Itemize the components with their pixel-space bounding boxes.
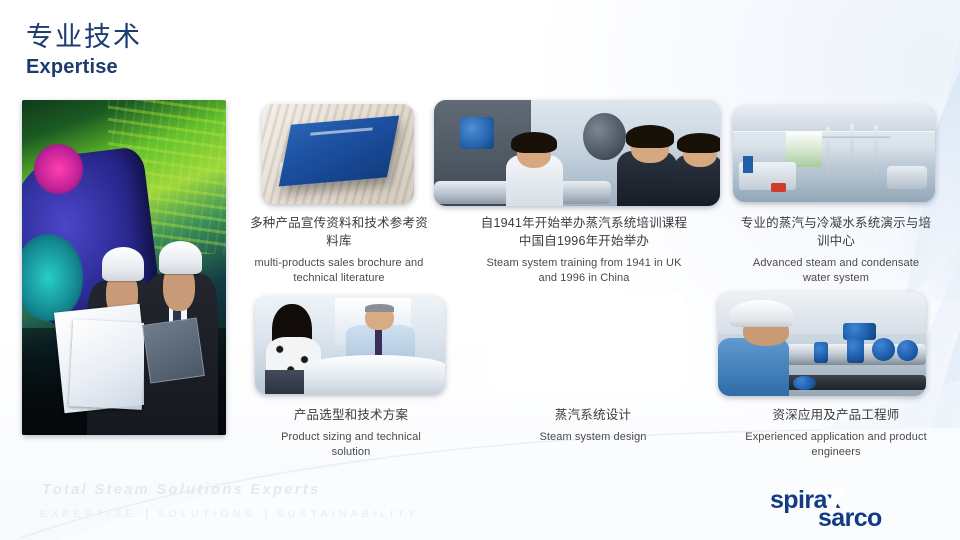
caption-cn-1: 多种产品宣传资料和技术参考资料库 [250, 214, 428, 250]
caption-cn-4: 产品选型和技术方案 [262, 406, 440, 424]
logo-text-sarco: sarco [818, 506, 882, 531]
spirax-sarco-logo: spirax sarco [770, 488, 940, 534]
customer-consultation-meeting-photo [255, 296, 445, 394]
caption-en-6: Experienced application and product engi… [740, 430, 932, 460]
footer-tagline: Total Steam Solutions Experts [42, 482, 321, 498]
footer-pillar-separator-2: | [265, 508, 268, 520]
caption-demo-centre: 专业的蒸汽与冷凝水系统演示与培训中心 Advanced steam and co… [740, 214, 932, 286]
demonstration-training-centre-photo [733, 106, 935, 202]
caption-cn-3: 专业的蒸汽与冷凝水系统演示与培训中心 [740, 214, 932, 250]
page-title-en: Expertise [26, 55, 142, 79]
caption-steam-system-design: 蒸汽系统设计 Steam system design [500, 406, 686, 445]
footer-pillar-expertise: EXPERTISE [40, 508, 137, 520]
steam-training-class-photo [434, 100, 720, 206]
caption-en-1: multi-products sales brochure and techni… [250, 256, 428, 286]
caption-cn-5: 蒸汽系统设计 [500, 406, 686, 424]
steam-system-schematic-diagram-photo [487, 292, 686, 392]
two-engineers-reviewing-blueprints-photo [22, 100, 226, 435]
caption-steam-training: 自1941年开始举办蒸汽系统培训课程中国自1996年开始举办 Steam sys… [478, 214, 690, 286]
caption-en-5: Steam system design [500, 430, 686, 445]
blue-catalogue-book-photo [262, 104, 414, 204]
footer-pillar-sustainability: SUSTAINABILITY [277, 508, 420, 520]
caption-cn-6: 资深应用及产品工程师 [740, 406, 932, 424]
footer-pillars: EXPERTISE | SOLUTIONS | SUSTAINABILITY [40, 508, 419, 520]
slide-canvas: 专业技术 Expertise [0, 0, 960, 540]
caption-product-sizing: 产品选型和技术方案 Product sizing and technical s… [262, 406, 440, 460]
caption-en-4: Product sizing and technical solution [262, 430, 440, 460]
caption-en-2: Steam system training from 1941 in UK an… [478, 256, 690, 286]
caption-multi-products-literature: 多种产品宣传资料和技术参考资料库 multi-products sales br… [250, 214, 428, 286]
engineer-with-steam-valves-photo [718, 292, 926, 396]
page-header: 专业技术 Expertise [26, 22, 142, 79]
caption-en-3: Advanced steam and condensate water syst… [740, 256, 932, 286]
footer-pillar-separator-1: | [146, 508, 149, 520]
caption-experienced-engineers: 资深应用及产品工程师 Experienced application and p… [740, 406, 932, 460]
page-title-cn: 专业技术 [26, 22, 142, 53]
footer-pillar-solutions: SOLUTIONS [157, 508, 255, 520]
caption-cn-2: 自1941年开始举办蒸汽系统培训课程中国自1996年开始举办 [478, 214, 690, 250]
